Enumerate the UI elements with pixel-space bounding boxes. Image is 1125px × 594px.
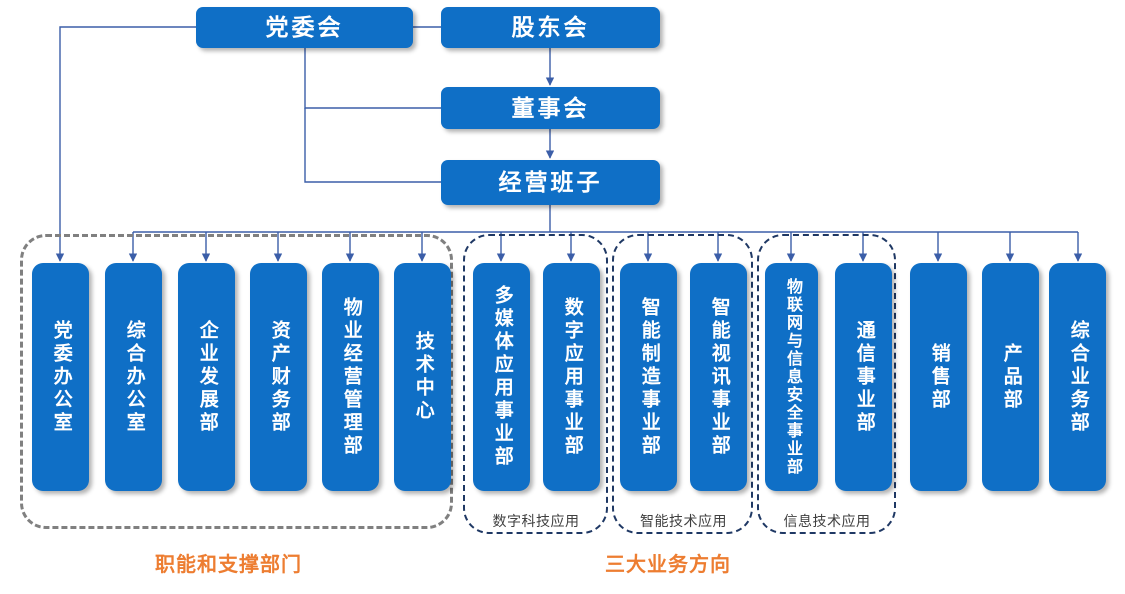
- node-label: 股东会: [512, 15, 590, 39]
- node-digital-app[interactable]: 数字应用事业部: [543, 263, 600, 491]
- node-product[interactable]: 产品部: [982, 263, 1039, 491]
- node-label: 综合办公室: [122, 320, 144, 435]
- node-general-office[interactable]: 综合办公室: [105, 263, 162, 491]
- node-label: 智能视讯事业部: [707, 297, 729, 458]
- node-property-mgmt[interactable]: 物业经营管理部: [322, 263, 379, 491]
- node-label: 数字应用事业部: [560, 297, 582, 458]
- caption-infotech: 信息技术应用: [771, 511, 883, 531]
- node-label: 企业发展部: [195, 320, 217, 435]
- node-board[interactable]: 董事会: [441, 87, 660, 129]
- node-multimedia-app[interactable]: 多媒体应用事业部: [473, 263, 530, 491]
- label-support: 职能和支撑部门: [155, 548, 302, 577]
- node-label: 物联网与信息安全事业部: [782, 278, 801, 476]
- node-sales[interactable]: 销售部: [910, 263, 967, 491]
- node-label: 经营班子: [499, 170, 603, 194]
- caption-digital: 数字科技应用: [478, 511, 594, 531]
- node-communication[interactable]: 通信事业部: [835, 263, 892, 491]
- node-label: 物业经营管理部: [339, 297, 361, 458]
- node-label: 董事会: [512, 96, 590, 120]
- node-label: 综合业务部: [1066, 320, 1088, 435]
- node-label: 党委会: [266, 15, 344, 39]
- node-party-committee[interactable]: 党委会: [196, 7, 413, 48]
- label-business: 三大业务方向: [605, 548, 731, 577]
- node-management[interactable]: 经营班子: [441, 160, 660, 205]
- node-enterprise-dev[interactable]: 企业发展部: [178, 263, 235, 491]
- node-iot-security[interactable]: 物联网与信息安全事业部: [765, 263, 818, 491]
- node-general-business[interactable]: 综合业务部: [1049, 263, 1106, 491]
- node-label: 智能制造事业部: [637, 297, 659, 458]
- caption-intelligent: 智能技术应用: [627, 511, 740, 531]
- node-smart-manufacturing[interactable]: 智能制造事业部: [620, 263, 677, 491]
- node-label: 销售部: [927, 343, 949, 412]
- node-label: 多媒体应用事业部: [490, 285, 512, 469]
- node-asset-finance[interactable]: 资产财务部: [250, 263, 307, 491]
- node-label: 通信事业部: [852, 320, 874, 435]
- node-label: 资产财务部: [267, 320, 289, 435]
- node-tech-center[interactable]: 技术中心: [394, 263, 451, 491]
- node-label: 技术中心: [411, 331, 433, 423]
- node-smart-video[interactable]: 智能视讯事业部: [690, 263, 747, 491]
- node-label: 产品部: [999, 343, 1021, 412]
- node-party-office[interactable]: 党委办公室: [32, 263, 89, 491]
- org-chart-canvas: 党委会股东会董事会经营班子 党委办公室综合办公室企业发展部资产财务部物业经营管理…: [0, 0, 1125, 594]
- node-label: 党委办公室: [49, 320, 71, 435]
- node-shareholders[interactable]: 股东会: [441, 7, 660, 48]
